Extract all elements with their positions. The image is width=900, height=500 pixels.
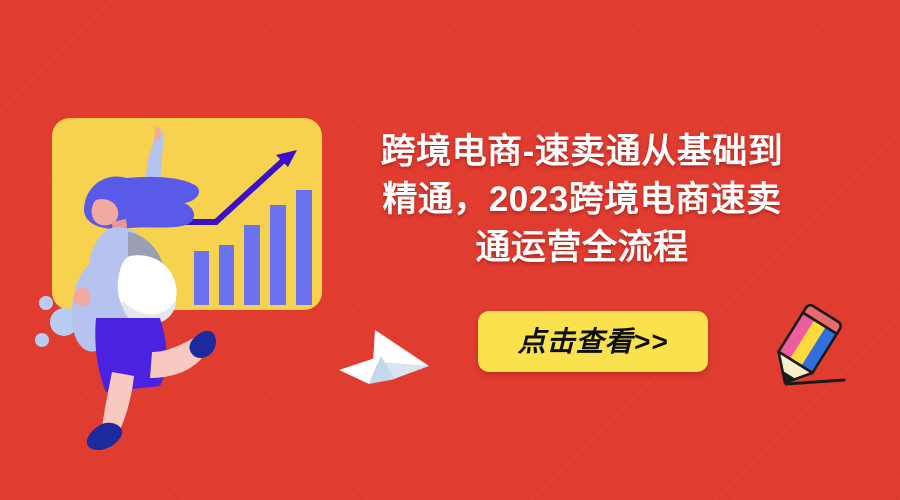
banner-title: 跨境电商-速卖通从基础到 精通，2023跨境电商速卖 通运营全流程 — [332, 128, 832, 272]
title-line-2: 精通，2023跨境电商速卖 — [332, 176, 832, 224]
click-to-view-button[interactable]: 点击查看>> — [478, 311, 708, 372]
title-line-1: 跨境电商-速卖通从基础到 — [332, 128, 832, 176]
pencil-icon — [760, 300, 850, 395]
chart-bar — [296, 190, 312, 305]
banner-root: 跨境电商-速卖通从基础到 精通，2023跨境电商速卖 通运营全流程 点击查看>> — [0, 0, 900, 500]
chart-bar — [219, 245, 234, 305]
chart-bar — [270, 205, 286, 305]
paper-plane-icon — [333, 322, 438, 394]
chart-bar — [194, 251, 209, 305]
bubble-icon — [35, 333, 49, 347]
bubble-icon — [39, 296, 53, 310]
front-shoe — [87, 423, 122, 450]
fist — [73, 288, 90, 306]
cta-label: 点击查看>> — [518, 328, 669, 356]
title-line-3: 通运营全流程 — [332, 224, 832, 272]
hero-illustration — [0, 0, 360, 500]
chart-bar — [244, 225, 260, 305]
back-shoe — [190, 331, 217, 358]
